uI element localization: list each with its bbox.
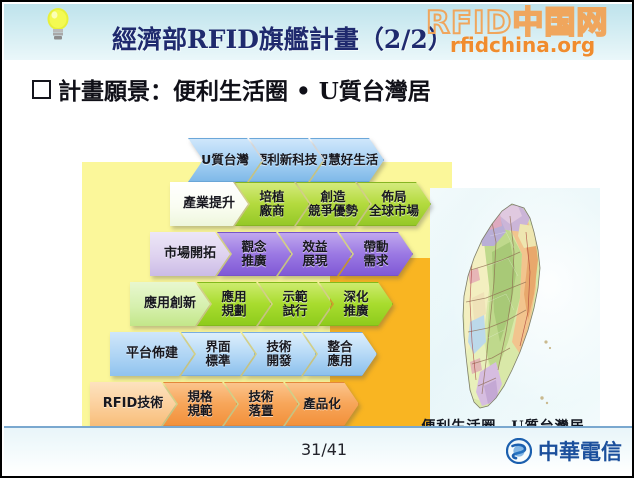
row-label-text: 平台佈建 (126, 347, 178, 362)
diagram-row-6: RFID技術規格 規範技術 落置產品化 (90, 382, 359, 426)
page-number: 31/41 (301, 440, 347, 459)
diagram-row-4: 應用創新應用 規劃示範 試行深化 推廣 (130, 282, 393, 326)
stage-chevron-text: 帶動 需求 (363, 240, 388, 268)
stage-chevron-text: 創造 競爭優勢 (308, 190, 358, 218)
row-label-5[interactable]: 平台佈建 (110, 332, 194, 376)
stage-chevron-text: 觀念 推廣 (241, 240, 266, 268)
row-label-text: RFID技術 (103, 397, 164, 412)
stage-chevron-1-1[interactable]: U質台灣 (188, 138, 262, 182)
stage-chevron-text: 技術 落置 (248, 390, 273, 418)
row-label-6[interactable]: RFID技術 (90, 382, 176, 426)
row-label-2[interactable]: 產業提升 (170, 182, 248, 226)
stage-chevron-text: 產品化 (303, 397, 341, 411)
row-label-3[interactable]: 市場開拓 (150, 232, 230, 276)
chunghwa-telecom-logo-icon (506, 438, 532, 464)
stage-chevron-text: 界面 標準 (205, 340, 230, 368)
stage-chevron-text: 技術 開發 (266, 340, 291, 368)
stage-chevron-text: 便利新科技 (255, 153, 318, 167)
row-label-4[interactable]: 應用創新 (130, 282, 210, 326)
diagram-row-2: 產業提升培植 廠商創造 競爭優勢佈局 全球市場 (170, 182, 431, 226)
row-label-text: 產業提升 (183, 197, 235, 212)
row-label-text: 應用創新 (144, 297, 196, 312)
stage-chevron-text: 佈局 全球市場 (369, 190, 419, 218)
staircase-diagram: U質台灣便利新科技智慧好生活產業提升培植 廠商創造 競爭優勢佈局 全球市場市場開… (2, 2, 634, 478)
stage-chevron-text: 智慧好生活 (316, 153, 379, 167)
stage-chevron-text: U質台灣 (201, 153, 249, 167)
stage-chevron-text: 示範 試行 (282, 290, 307, 318)
stage-chevron-text: 深化 推廣 (343, 290, 368, 318)
stage-chevron-text: 規格 規範 (187, 390, 212, 418)
stage-chevron-text: 效益 展現 (302, 240, 327, 268)
brand-logo-text: 中華電信 (538, 436, 622, 466)
row-label-text: 市場開拓 (164, 247, 216, 262)
stage-chevron-text: 整合 應用 (327, 340, 352, 368)
slide-canvas: 經濟部RFID旗艦計畫（2/2） RFID中国网 rfidchina.org 計… (0, 0, 634, 478)
stage-chevron-text: 培植 廠商 (259, 190, 284, 218)
diagram-row-1: U質台灣便利新科技智慧好生活 (188, 138, 384, 182)
diagram-row-5: 平台佈建界面 標準技術 開發整合 應用 (110, 332, 377, 376)
stage-chevron-text: 應用 規劃 (221, 290, 246, 318)
brand-logo: 中華電信 (506, 436, 622, 466)
diagram-row-3: 市場開拓觀念 推廣效益 展現帶動 需求 (150, 232, 413, 276)
slide-footer: 31/41 中華電信 (4, 426, 634, 474)
